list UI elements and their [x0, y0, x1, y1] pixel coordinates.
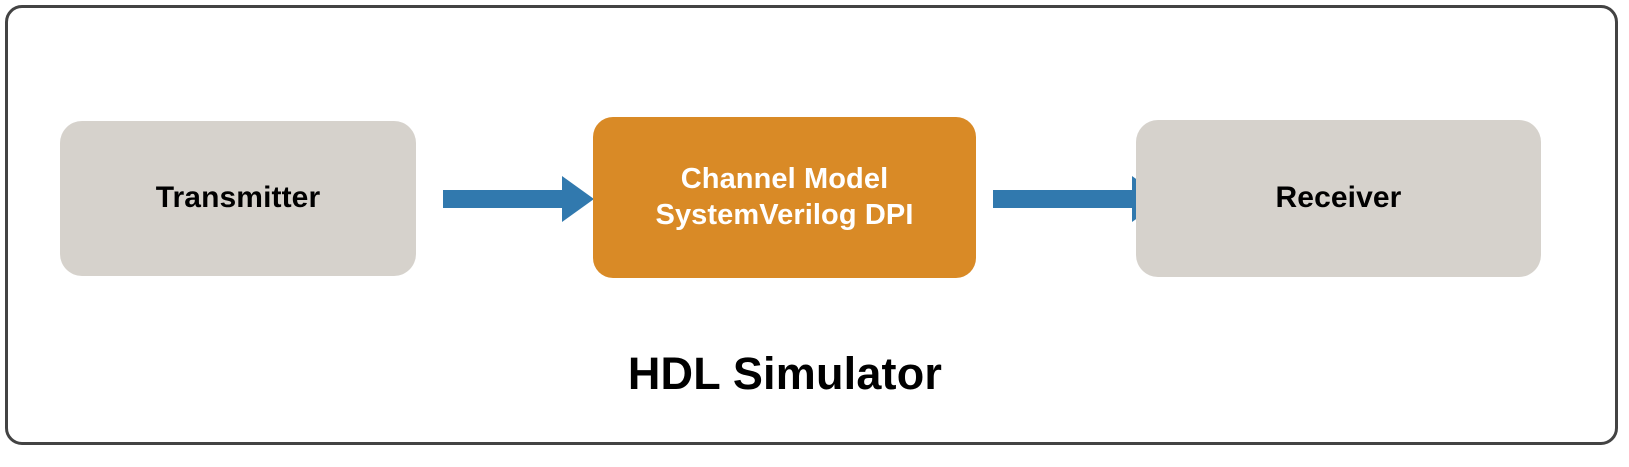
arrow-shaft: [443, 190, 563, 208]
arrow-head-icon: [562, 176, 594, 222]
arrow-transmitter-to-channel: [443, 176, 594, 222]
block-transmitter[interactable]: Transmitter: [60, 121, 416, 276]
block-transmitter-label: Transmitter: [156, 180, 321, 217]
block-channel-model[interactable]: Channel Model SystemVerilog DPI: [593, 117, 976, 278]
arrow-shaft: [993, 190, 1133, 208]
block-receiver-label: Receiver: [1276, 180, 1402, 217]
block-receiver[interactable]: Receiver: [1136, 120, 1541, 277]
diagram-canvas: Transmitter Channel Model SystemVerilog …: [0, 0, 1629, 467]
block-channel-model-label: Channel Model SystemVerilog DPI: [656, 162, 914, 233]
hdl-simulator-caption: HDL Simulator: [60, 348, 1510, 400]
